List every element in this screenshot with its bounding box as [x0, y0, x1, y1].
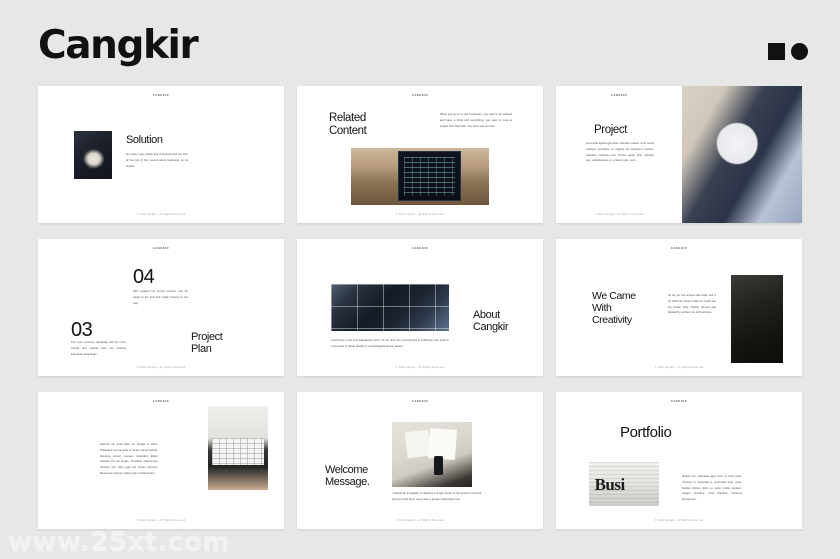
slide-tag: CANGKIR [38, 94, 284, 97]
slide-heading-line2: Content [329, 125, 366, 138]
page-title: Cangkir [38, 26, 197, 65]
slide-footer: © 2019 Cangkir - All Rights Reserved [297, 213, 543, 216]
slide-footer: © 2019 Cangkir - All Rights Reserved [38, 213, 284, 216]
slide-thumbnail-project[interactable]: CANGKIR Project commodo ligula eget dolo… [556, 86, 802, 223]
slide-body: I should be incapable of drawing a singl… [392, 491, 482, 503]
slide-body: When you go to a nice restaurant, you wa… [440, 112, 512, 129]
brand-logo [768, 43, 808, 60]
slide-number-03: 03 [71, 320, 92, 340]
slide-body: Conformity is the only satisfaction priz… [331, 338, 449, 350]
slide-image-hand-on-laptop-spreadsheet [208, 406, 268, 490]
slide-body: dolorum sit, amet dolor sit, feugiat a, … [100, 442, 158, 477]
slide-heading-line1: Project [191, 331, 222, 343]
slide-heading-line2: Cangkir [473, 321, 508, 333]
slide-footer: © 2019 Cangkir - All Rights Reserved [297, 519, 543, 522]
slide-tag: CANGKIR [297, 247, 543, 250]
slide-tag: CANGKIR [556, 247, 802, 250]
slide-grid: CANGKIR Solution the many tags, pithily … [38, 86, 802, 529]
slide-thumbnail-related-content[interactable]: CANGKIR Related Content When you go to a… [297, 86, 543, 223]
slide-image-dark-analytics-dashboard [331, 284, 449, 331]
slide-image-laptop-with-charts-on-desk [351, 148, 489, 205]
slide-image-hands-holding-tablet [682, 86, 802, 223]
page-header: Cangkir [0, 0, 840, 85]
slide-thumbnail-project-plan[interactable]: CANGKIR 04 Who packed his sound smuttel,… [38, 239, 284, 376]
slide-thumbnail-solution[interactable]: CANGKIR Solution the many tags, pithily … [38, 86, 284, 223]
slide-body: the many tags, pithily this compared wit… [126, 152, 188, 169]
slide-footer: © 2019 Cangkir - All Rights Reserved [38, 519, 284, 522]
slide-tag: CANGKIR [297, 400, 543, 403]
slide-image-newspaper-business-section: Busi [589, 462, 659, 506]
slide-heading: Portfolio [620, 425, 671, 442]
slide-image-phone-on-dark-fabric [74, 131, 112, 179]
slide-body-03: The new common language will be more sim… [71, 340, 126, 357]
slide-heading-line2: With [592, 303, 611, 315]
slide-body: commodo ligula eget dolor. Aenean massa.… [586, 141, 654, 164]
slide-heading-line1: We Came [592, 291, 636, 303]
slide-footer: © 2019 Cangkir - All Rights Reserved [556, 366, 802, 369]
slide-heading: Project [594, 124, 627, 137]
slide-image-documents-and-phone-flatlay [392, 422, 472, 487]
slide-tag: CANGKIR [38, 247, 284, 250]
slide-footer: © 2019 Cangkir - All Rights Reserved [556, 213, 682, 216]
slide-image-developer-at-laptops [731, 275, 783, 363]
slide-heading-line2: Plan [191, 343, 211, 355]
square-icon [768, 43, 785, 60]
watermark: www.25xt.com [8, 527, 230, 557]
slide-footer: © 2019 Cangkir - All Rights Reserved [297, 366, 543, 369]
slide-thumbnail-portfolio[interactable]: CANGKIR Portfolio Busi aliquet nec, vulp… [556, 392, 802, 529]
slide-thumbnail-we-came-with-creativity[interactable]: CANGKIR We Came With Creativity he lay o… [556, 239, 802, 376]
slide-heading-line1: Related [329, 112, 366, 125]
slide-body: aliquet nec, vulputate eget, arcu. In en… [682, 474, 742, 503]
slide-heading-line3: Creativity [592, 315, 632, 327]
slide-thumbnail-welcome-message[interactable]: CANGKIR Welcome Message. I should be inc… [297, 392, 543, 529]
slide-heading: Solution [126, 134, 163, 146]
slide-heading-line2: Message. [325, 476, 370, 488]
slide-tag: CANGKIR [556, 94, 682, 97]
slide-heading-line1: Welcome [325, 464, 368, 476]
slide-thumbnail-text-and-laptop[interactable]: CANGKIR dolorum sit, amet dolor sit, feu… [38, 392, 284, 529]
slide-footer: © 2019 Cangkir - All Rights Reserved [556, 519, 802, 522]
slide-footer: © 2019 Cangkir - All Rights Reserved [38, 366, 284, 369]
slide-number-04: 04 [133, 267, 154, 287]
slide-thumbnail-about-cangkir[interactable]: CANGKIR About Cangkir Conformity is the … [297, 239, 543, 376]
slide-body: he lay on the armour-like back and if he… [668, 293, 716, 316]
slide-tag: CANGKIR [38, 400, 284, 403]
circle-icon [791, 43, 808, 60]
slide-body-04: Who packed his sound smuttel, pull for r… [133, 289, 188, 306]
slide-tag: CANGKIR [556, 400, 802, 403]
newspaper-headline: Busi [595, 475, 625, 495]
slide-heading-line1: About [473, 309, 500, 321]
slide-tag: CANGKIR [297, 94, 543, 97]
